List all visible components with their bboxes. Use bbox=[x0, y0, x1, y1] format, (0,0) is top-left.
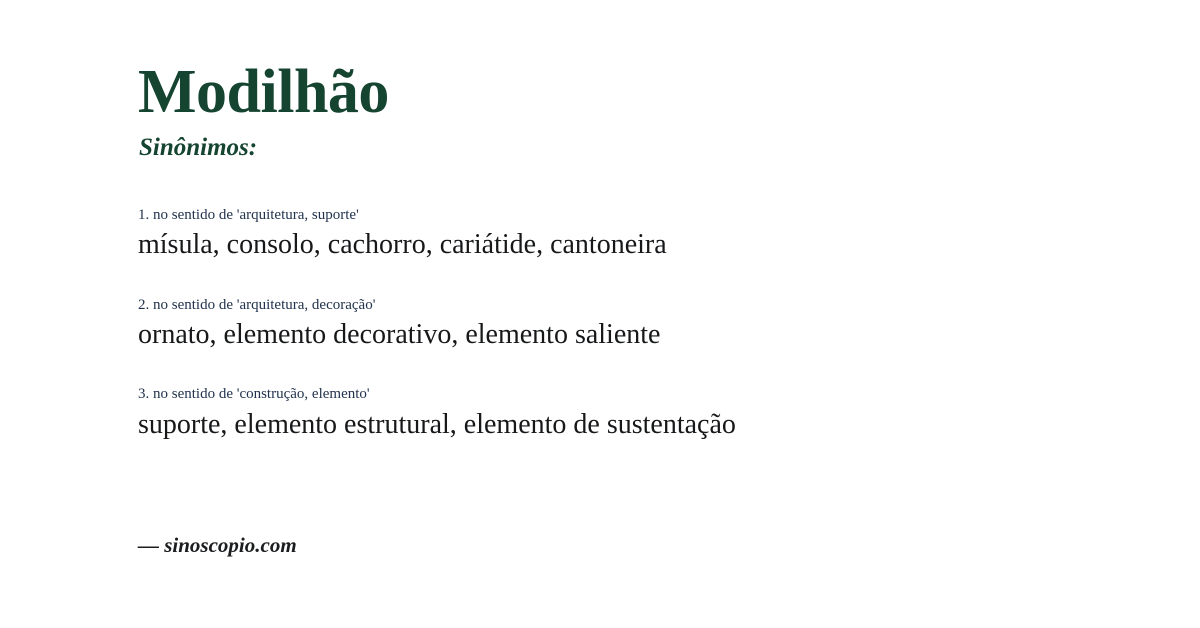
sense-synonyms: mísula, consolo, cachorro, cariátide, ca… bbox=[138, 227, 1088, 263]
sense-item: 2. no sentido de 'arquitetura, decoração… bbox=[138, 295, 1088, 354]
sense-item: 1. no sentido de 'arquitetura, suporte' … bbox=[138, 205, 1088, 264]
sense-item: 3. no sentido de 'construção, elemento' … bbox=[138, 384, 1088, 443]
thesaurus-entry-card: Modilhão Sinônimos: 1. no sentido de 'ar… bbox=[0, 0, 1200, 628]
sense-synonyms: suporte, elemento estrutural, elemento d… bbox=[138, 407, 1088, 443]
synonyms-section-heading: Sinônimos: bbox=[139, 134, 257, 162]
source-attribution: — sinoscopio.com bbox=[138, 533, 297, 558]
sense-label: 3. no sentido de 'construção, elemento' bbox=[138, 384, 1088, 404]
sense-synonyms: ornato, elemento decorativo, elemento sa… bbox=[138, 317, 1088, 353]
sense-label: 1. no sentido de 'arquitetura, suporte' bbox=[138, 205, 1088, 225]
sense-list: 1. no sentido de 'arquitetura, suporte' … bbox=[138, 205, 1088, 443]
page-title: Modilhão bbox=[138, 60, 389, 125]
sense-label: 2. no sentido de 'arquitetura, decoração… bbox=[138, 295, 1088, 315]
